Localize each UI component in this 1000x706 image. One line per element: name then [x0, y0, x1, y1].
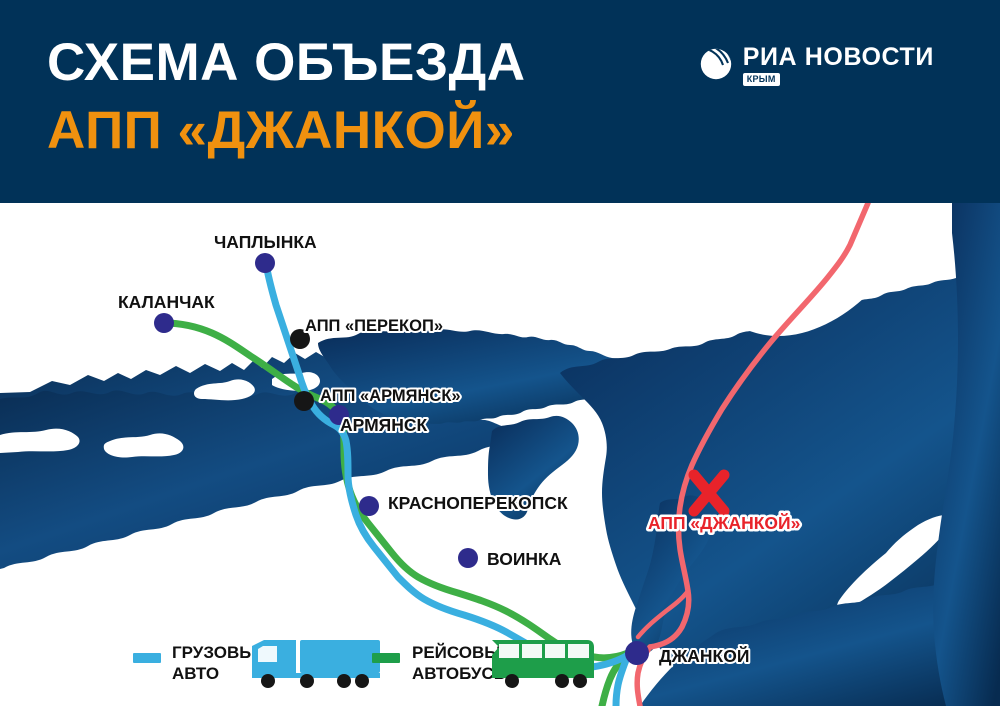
label-post-armyansk: АПП «АРМЯНСК» [320, 387, 461, 405]
label-dzhankoy: ДЖАНКОЙ [659, 645, 749, 666]
ria-globe-icon [698, 45, 734, 81]
label-chaplynka: ЧАПЛЫНКА [214, 232, 317, 252]
page-title: СХЕМА ОБЪЕЗДА АПП «ДЖАНКОЙ» [47, 33, 526, 161]
logo-region-badge: КРЫМ [743, 73, 780, 86]
label-post-dzhankoy-blocked: АПП «ДЖАНКОЙ» [648, 512, 800, 533]
marker-post-armyansk[interactable] [294, 391, 314, 411]
bus-icon [492, 640, 594, 678]
marker-krasnoperekopsk[interactable] [359, 496, 379, 516]
ria-novosti-logo: РИА НОВОСТИ КРЫМ [698, 44, 934, 92]
logo-text-wrap: РИА НОВОСТИ КРЫМ [743, 44, 934, 86]
map-canvas: ЧАПЛЫНКА КАЛАНЧАК АПП «ПЕРЕКОП» АПП «АРМ… [0, 203, 1000, 706]
label-krasnoperekopsk: КРАСНОПЕРЕКОПСК [388, 493, 568, 513]
label-voinka: ВОИНКА [487, 549, 562, 569]
header-banner: СХЕМА ОБЪЕЗДА АПП «ДЖАНКОЙ» РИА НОВОСТИ … [0, 0, 1000, 203]
truck-icon [252, 640, 380, 678]
title-line-primary: СХЕМА ОБЪЕЗДА [47, 33, 526, 93]
title-line-accent: АПП «ДЖАНКОЙ» [47, 101, 526, 161]
marker-dzhankoy[interactable] [625, 641, 649, 665]
marker-voinka[interactable] [458, 548, 478, 568]
legend-swatch-buses [372, 653, 400, 663]
label-armyansk: АРМЯНСК [340, 415, 428, 435]
label-kalanchak: КАЛАНЧАК [118, 292, 215, 312]
label-post-perekop: АПП «ПЕРЕКОП» [305, 317, 443, 335]
legend-label-trucks-line2: АВТО [172, 664, 219, 683]
logo-wordmark: РИА НОВОСТИ [743, 44, 934, 70]
legend-swatch-trucks [133, 653, 161, 663]
marker-kalanchak[interactable] [154, 313, 174, 333]
marker-chaplynka[interactable] [255, 253, 275, 273]
